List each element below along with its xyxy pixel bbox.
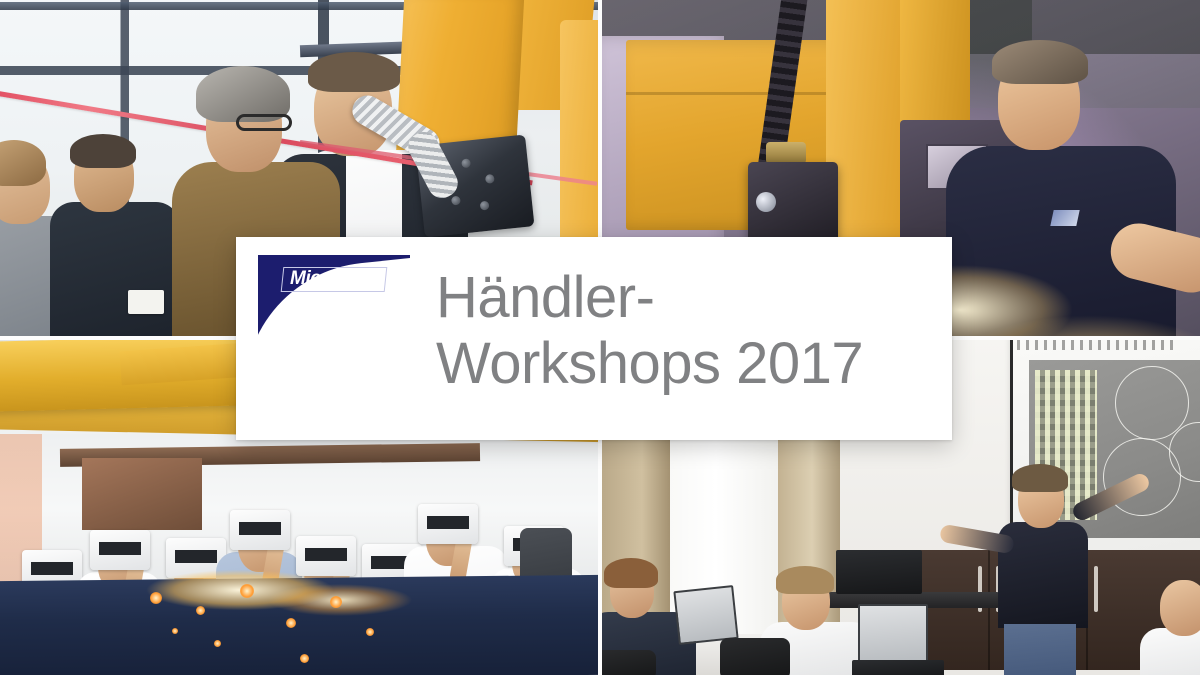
presenter-desk [810, 592, 1000, 608]
coiled-hose [756, 0, 810, 181]
workpiece-crate [82, 458, 202, 530]
title-line-1: Händler- [436, 265, 654, 330]
page-title: Händler- Workshops 2017 [436, 265, 863, 397]
logo-word-academy: Academy [289, 297, 374, 319]
logo-text: MicroStep Academy® [258, 267, 410, 320]
logo-line-academy: Academy® [289, 297, 379, 320]
machine-column-upper [900, 0, 970, 130]
chair [720, 638, 790, 675]
logo-line-microstep: MicroStep [281, 267, 388, 292]
laptop [858, 604, 928, 664]
machine-column [826, 0, 966, 240]
microstep-academy-logo: MicroStep Academy® [258, 255, 410, 417]
banner-canvas: MicroStep Academy® Händler- Workshops 20… [0, 0, 1200, 675]
cad-nesting-view [1029, 360, 1200, 538]
wall-cabinets [890, 550, 1200, 670]
logo-word-microstep: MicroStep [290, 269, 378, 289]
laptop-back [836, 550, 922, 594]
title-card: MicroStep Academy® Händler- Workshops 20… [236, 237, 952, 440]
chair [600, 650, 656, 675]
laptop-base [852, 660, 944, 675]
desk-leg [900, 606, 906, 675]
machine-frame-right [560, 20, 600, 250]
participant-table [600, 634, 880, 675]
laptop [673, 585, 738, 645]
registered-trademark-icon: ® [374, 299, 380, 308]
hose-collar [766, 142, 806, 164]
steel-beam [60, 443, 480, 467]
title-line-2: Workshops 2017 [436, 331, 863, 397]
projection-screen [1010, 338, 1200, 562]
nested-parts [1035, 370, 1097, 520]
machine-body-yellow [626, 40, 926, 230]
steel-plate [600, 36, 724, 266]
